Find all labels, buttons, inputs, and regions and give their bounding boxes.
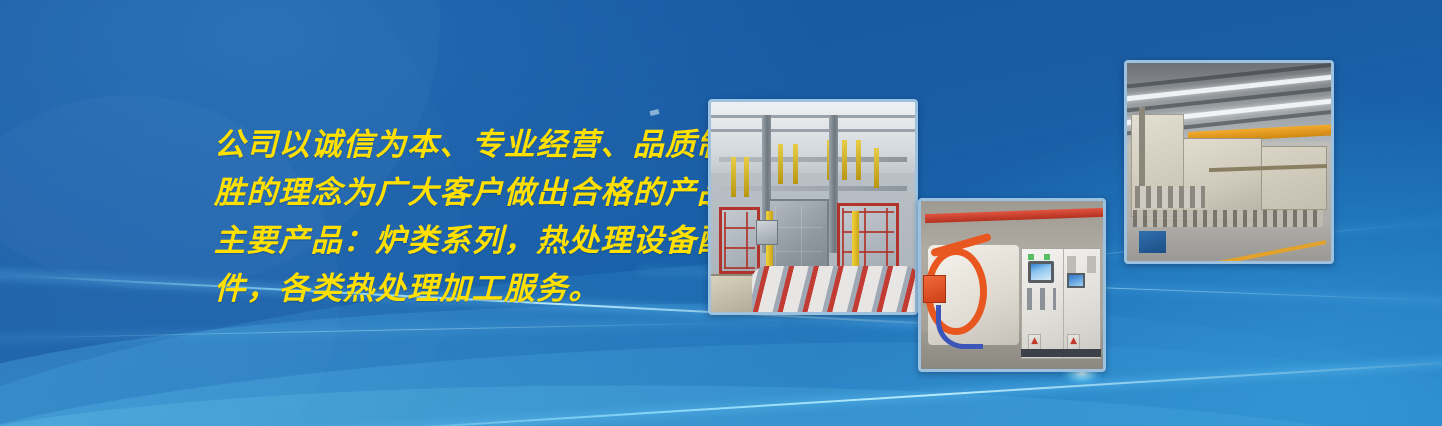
push-button-grid — [1027, 288, 1057, 310]
photo-chamber-furnace-bay[interactable] — [708, 99, 918, 315]
yellow-guard-post — [852, 211, 859, 270]
selector-knob-array — [1067, 256, 1097, 273]
photo-vacuum-furnace[interactable] — [918, 198, 1106, 372]
yellow-rod — [793, 144, 798, 184]
yellow-rod — [731, 157, 736, 197]
headline-line-2: 胜的理念为广大客户做出合格的产品。 — [214, 169, 734, 217]
photo-mesh-belt-furnace-line[interactable] — [1124, 60, 1334, 264]
headline-text-block: 公司以诚信为本、专业经营、品质制 胜的理念为广大客户做出合格的产品。 主要产品：… — [214, 121, 734, 313]
hmi-touchscreen — [1028, 261, 1055, 283]
striped-tarp — [752, 266, 915, 312]
yellow-rod — [744, 157, 749, 197]
photo-image — [711, 102, 915, 312]
workshop-ceiling — [711, 102, 915, 173]
ceiling-beam — [711, 115, 915, 118]
photo-image — [1127, 63, 1331, 261]
headline-line-3: 主要产品：炉类系列，热处理设备配 — [214, 217, 734, 265]
door-junction-box — [923, 275, 947, 304]
secondary-display — [1067, 273, 1086, 288]
yellow-rod — [842, 140, 847, 180]
headline-line-1: 公司以诚信为本、专业经营、品质制 — [214, 121, 734, 169]
ceiling-beam — [711, 129, 915, 132]
wooden-crate — [711, 274, 752, 312]
mesh-belt-conveyor — [1133, 210, 1323, 228]
indicator-lights — [1028, 254, 1050, 259]
roller-conveyor — [1135, 186, 1204, 208]
headline-line-4: 件，各类热处理加工服务。 — [214, 265, 734, 313]
yellow-rod — [778, 144, 783, 184]
company-promo-banner: 公司以诚信为本、专业经营、品质制 胜的理念为广大客户做出合格的产品。 主要产品：… — [0, 0, 1442, 426]
cabinet-plinth — [1021, 349, 1101, 357]
blue-drum — [1139, 231, 1166, 253]
exhaust-duct — [1139, 107, 1145, 198]
control-cabinet — [1021, 248, 1101, 359]
yellow-rod — [874, 148, 879, 188]
red-frame-panel — [719, 207, 760, 274]
photo-image — [921, 201, 1103, 369]
control-box — [756, 220, 778, 245]
cabinet-divider — [1063, 249, 1064, 358]
yellow-rod — [856, 140, 861, 180]
